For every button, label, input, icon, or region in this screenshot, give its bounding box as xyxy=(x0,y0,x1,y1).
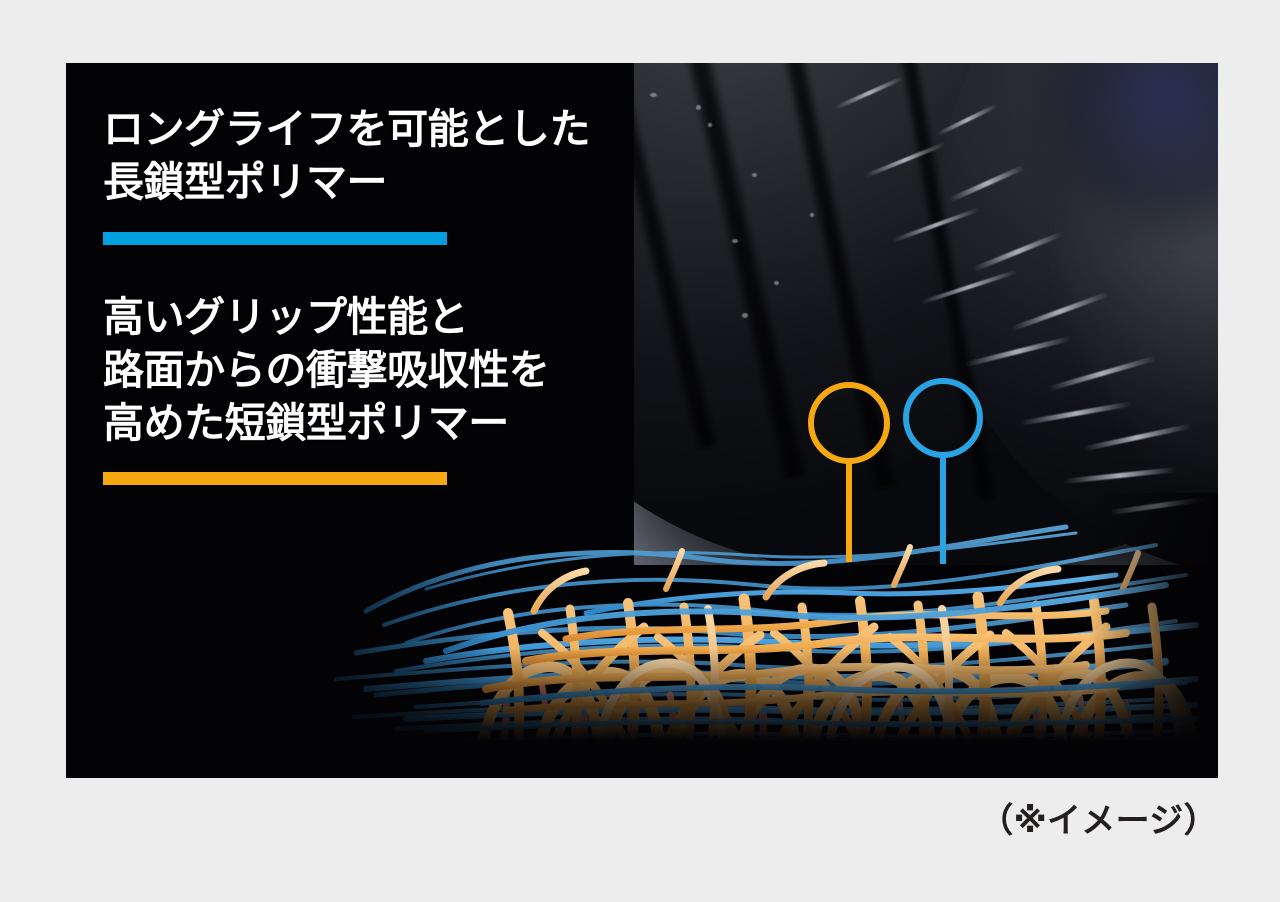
accent-rule-blue xyxy=(103,232,447,245)
tread-texture-dot xyxy=(650,93,657,97)
tread-texture-dot xyxy=(742,313,748,318)
infographic-stage: ロングライフを可能とした 長鎖型ポリマー 高いグリップ性能と 路面からの衝撃吸収… xyxy=(0,0,1280,902)
tire-corner-glint xyxy=(1028,63,1218,243)
content-panel: ロングライフを可能とした 長鎖型ポリマー 高いグリップ性能と 路面からの衝撃吸収… xyxy=(66,63,1218,778)
tread-texture-dot xyxy=(752,173,757,177)
polymer-illustration xyxy=(66,493,1218,778)
tread-texture-dot xyxy=(708,123,712,127)
tread-texture-dot xyxy=(774,281,779,285)
headline-group: ロングライフを可能とした 長鎖型ポリマー 高いグリップ性能と 路面からの衝撃吸収… xyxy=(103,103,643,485)
tread-texture-dot xyxy=(696,105,701,110)
headline-short-chain-polymer: 高いグリップ性能と 路面からの衝撃吸収性を 高めた短鎖型ポリマー xyxy=(103,291,643,451)
tread-texture-dot xyxy=(810,213,814,217)
block-long-chain-polymer: ロングライフを可能とした 長鎖型ポリマー xyxy=(103,103,643,245)
tread-texture-dot xyxy=(732,239,738,243)
tire-photo xyxy=(634,63,1218,565)
headline-long-chain-polymer: ロングライフを可能とした 長鎖型ポリマー xyxy=(103,103,643,210)
image-caption: （※イメージ） xyxy=(979,793,1218,842)
block-short-chain-polymer: 高いグリップ性能と 路面からの衝撃吸収性を 高めた短鎖型ポリマー xyxy=(103,291,643,486)
accent-rule-orange xyxy=(103,472,447,485)
